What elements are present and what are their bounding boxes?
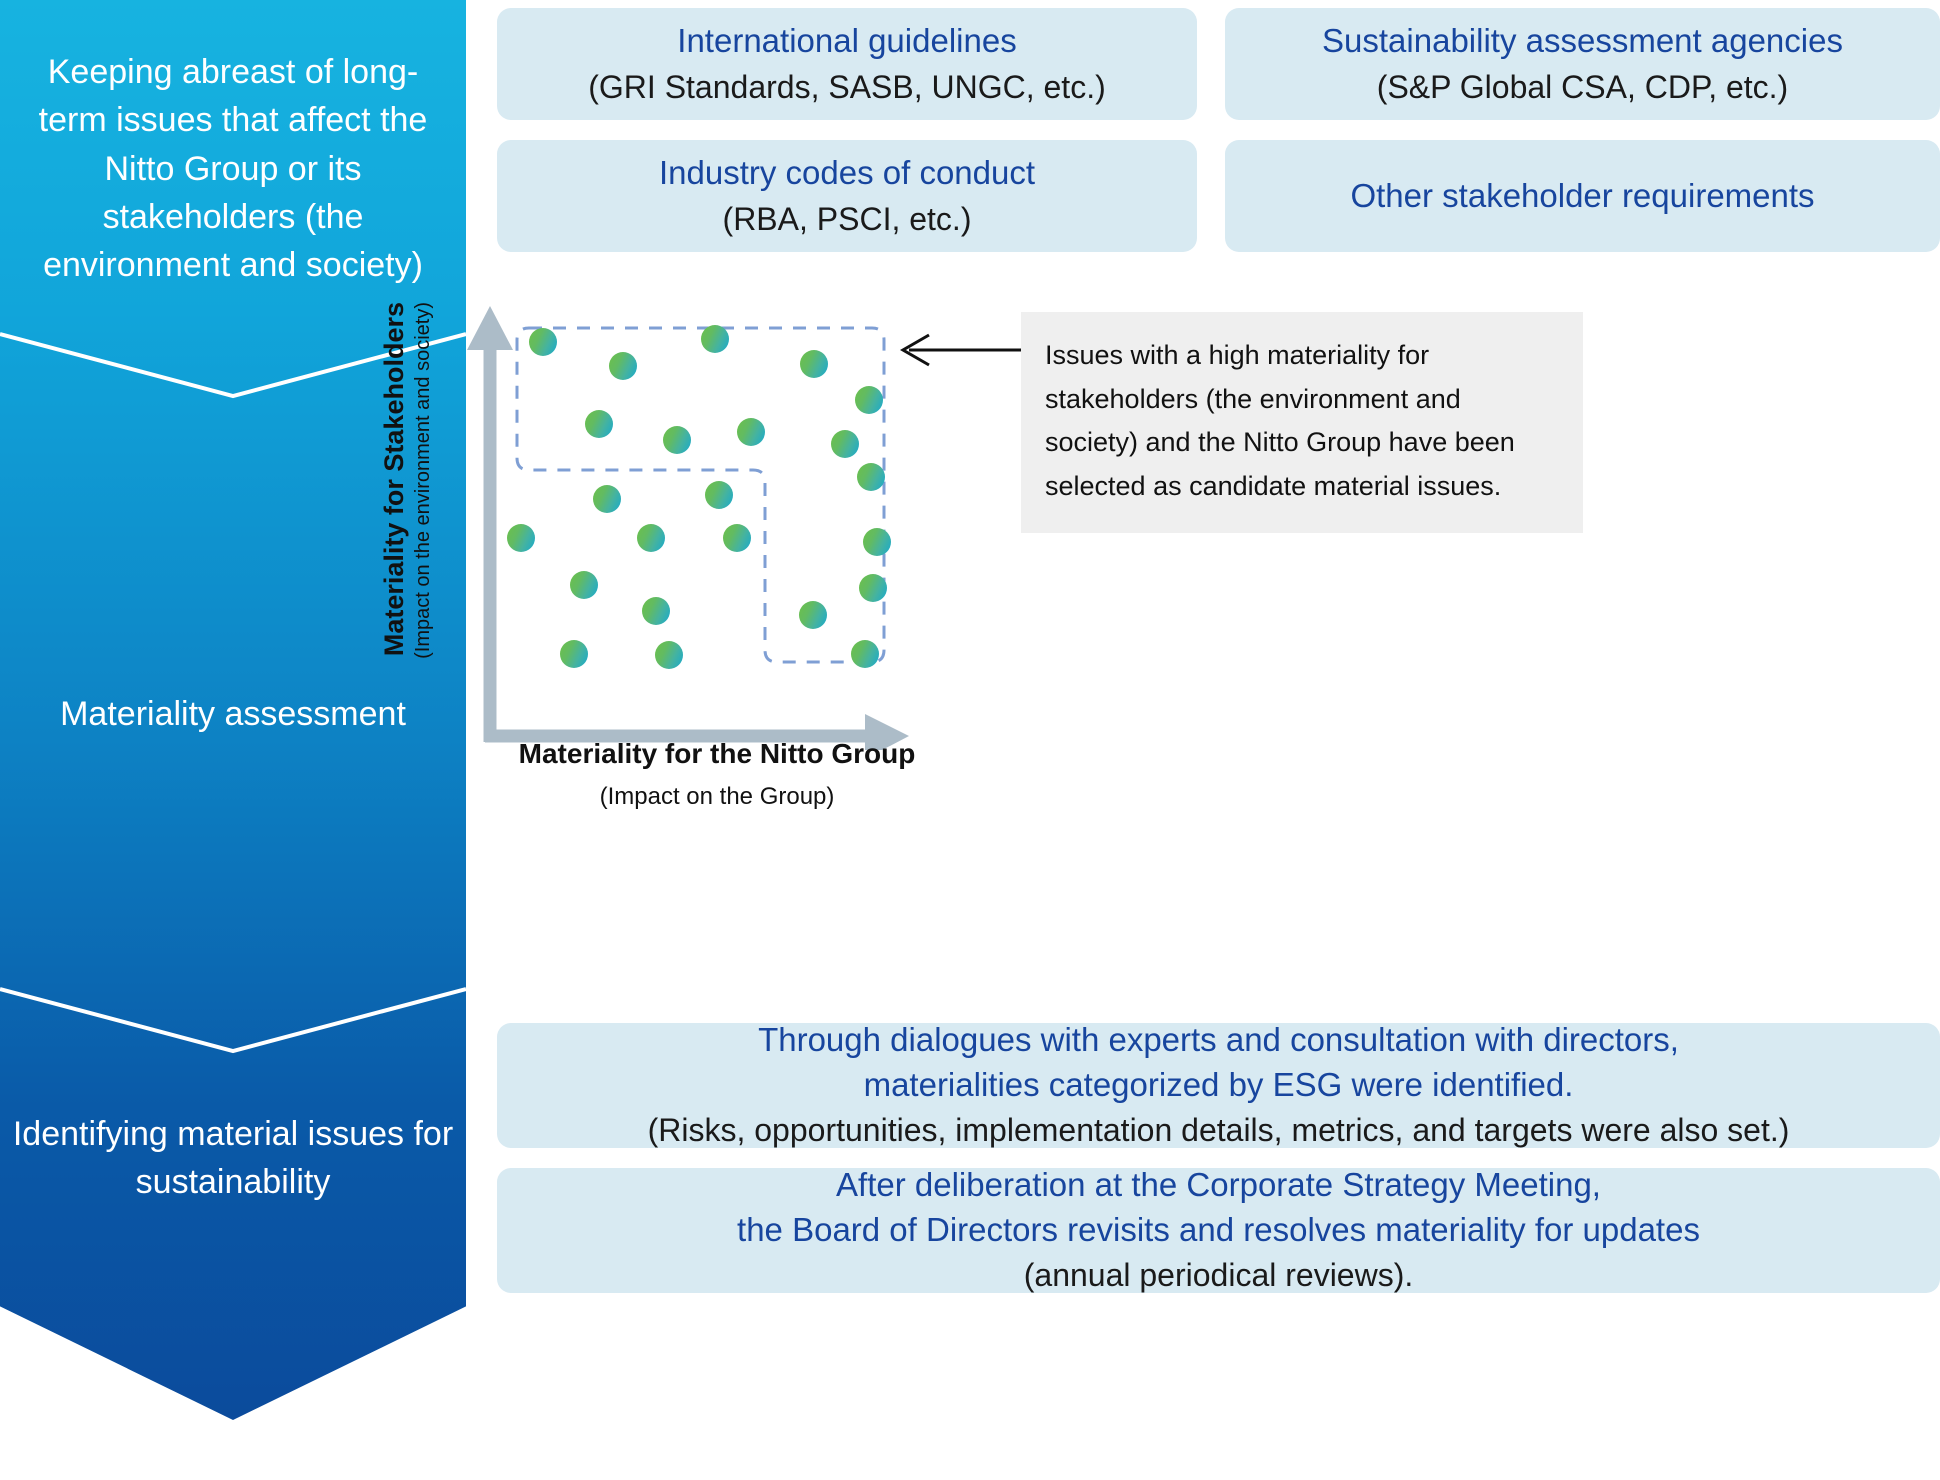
data-point [585,410,613,438]
data-point [637,524,665,552]
card-board-of-directors-review: After deliberation at the Corporate Stra… [497,1168,1940,1293]
data-point [570,571,598,599]
card-expert-dialogues: Through dialogues with experts and consu… [497,1023,1940,1148]
callout-text: Issues with a high materiality for stake… [1045,340,1515,501]
card-subtitle: (RBA, PSCI, etc.) [723,198,972,241]
x-axis-sublabel: (Impact on the Group) [482,783,952,811]
materiality-matrix-chart: Materiality for Stakeholders (Impact on … [387,290,947,820]
card-line-1: After deliberation at the Corporate Stra… [836,1163,1601,1208]
card-other-stakeholder-requirements: Other stakeholder requirements [1225,140,1940,252]
card-title: Sustainability assessment agencies [1322,19,1843,64]
card-line-3: (annual periodical reviews). [1024,1254,1414,1297]
card-line-2: the Board of Directors revisits and reso… [737,1208,1700,1253]
data-point [705,481,733,509]
card-sustainability-assessment-agencies: Sustainability assessment agencies (S&P … [1225,8,1940,120]
banner-stage-3-label: Identifying material issues for sustaina… [0,1110,466,1207]
callout-pointer-arrow [895,330,1025,370]
plot-area [487,300,907,710]
card-title: International guidelines [677,19,1016,64]
content-column: International guidelines (GRI Standards,… [497,0,1940,1480]
data-point [737,418,765,446]
data-point [560,640,588,668]
data-point [851,640,879,668]
card-international-guidelines: International guidelines (GRI Standards,… [497,8,1197,120]
card-title: Other stakeholder requirements [1350,174,1814,219]
data-point [863,528,891,556]
data-point [663,426,691,454]
card-line-2: materialities categorized by ESG were id… [864,1063,1574,1108]
y-axis-sublabel: (Impact on the environment and society) [412,302,435,659]
data-point [609,352,637,380]
data-point [831,430,859,458]
data-point [507,524,535,552]
data-point [800,350,828,378]
card-title: Industry codes of conduct [659,151,1035,196]
data-point [529,328,557,356]
y-axis-label-group: Materiality for Stakeholders (Impact on … [379,302,435,702]
data-point [723,524,751,552]
data-point [799,601,827,629]
data-point [593,485,621,513]
y-axis-label: Materiality for Stakeholders [379,302,410,656]
card-subtitle: (S&P Global CSA, CDP, etc.) [1377,66,1788,109]
banner-chevron-divider-2 [0,985,466,1065]
data-point [855,386,883,414]
data-point [701,325,729,353]
card-industry-codes-of-conduct: Industry codes of conduct (RBA, PSCI, et… [497,140,1197,252]
data-point [857,463,885,491]
data-point [642,597,670,625]
data-point [655,641,683,669]
data-point [859,574,887,602]
card-line-3: (Risks, opportunities, implementation de… [648,1109,1790,1152]
candidate-issues-region-outline [487,300,907,710]
card-line-1: Through dialogues with experts and consu… [758,1018,1679,1063]
banner-stage-1-label: Keeping abreast of long-term issues that… [0,48,466,289]
x-axis-label: Materiality for the Nitto Group [482,738,952,770]
card-subtitle: (GRI Standards, SASB, UNGC, etc.) [588,66,1105,109]
callout-explanation-box: Issues with a high materiality for stake… [1021,312,1583,533]
